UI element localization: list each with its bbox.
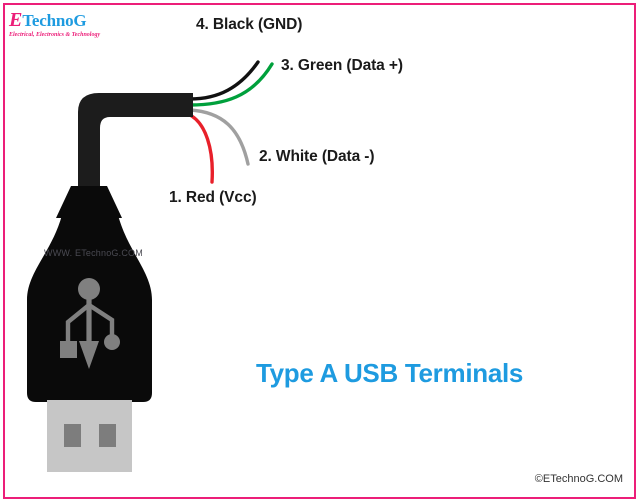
usb-terminals-diagram: ETechnoG Electrical, Electronics & Techn… <box>0 0 639 502</box>
wire-black-gnd <box>190 62 258 99</box>
diagram-title: Type A USB Terminals <box>256 358 523 389</box>
wire-label-green-data-plus: 3. Green (Data +) <box>281 57 403 75</box>
copyright-notice: ©ETechnoG.COM <box>535 473 623 485</box>
usb-metal-shell <box>47 400 132 472</box>
wire-label-white-data-minus: 2. White (Data -) <box>259 148 374 166</box>
wire-white-data-minus <box>190 110 248 164</box>
wire-label-red-vcc: 1. Red (Vcc) <box>169 189 257 207</box>
wire-label-black-gnd: 4. Black (GND) <box>196 16 302 34</box>
cable-strain-relief <box>56 186 122 218</box>
usb-shell-slot-right <box>99 424 116 447</box>
body-watermark: WWW. ETechnoG.COM <box>44 248 143 258</box>
usb-shell-slot-left <box>64 424 81 447</box>
wire-red-vcc <box>188 114 212 182</box>
usb-cable-jacket <box>78 93 193 190</box>
